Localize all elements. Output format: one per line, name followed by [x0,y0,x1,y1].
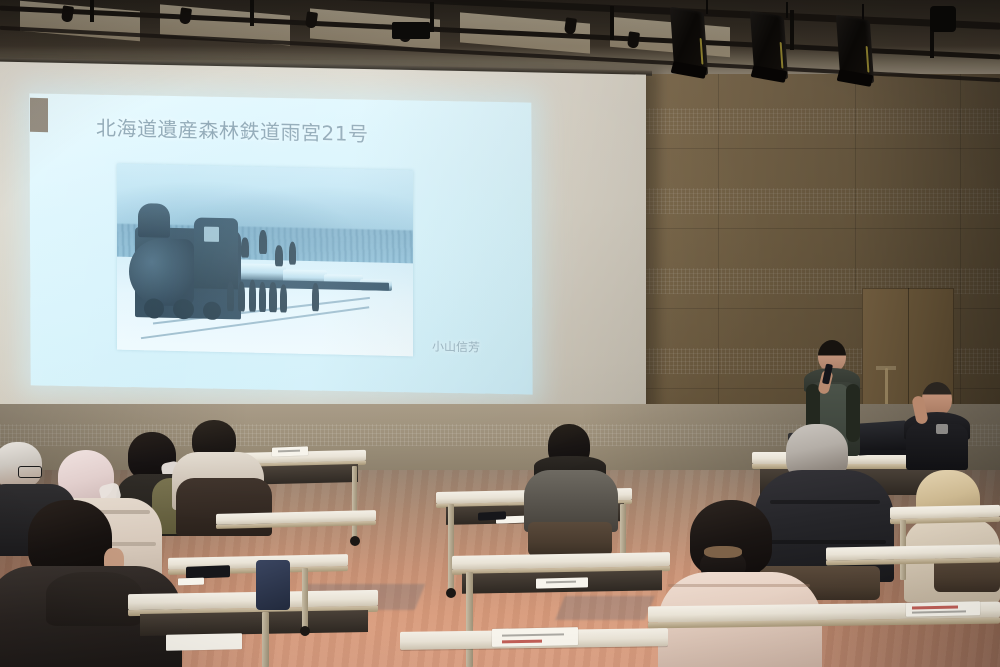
light-cable [786,2,788,18]
photo-worker [269,282,276,312]
table-leg [302,568,308,630]
truss-brace [430,2,434,32]
paper-on-desk[interactable] [536,577,588,588]
chair[interactable] [528,522,612,556]
paper-on-desk[interactable] [178,578,204,586]
photo-worker [289,242,297,264]
truss-brace [90,0,94,22]
paper-on-desk[interactable] [492,627,578,647]
light-cable [706,0,708,14]
hair-barrette-icon [704,546,742,558]
quilt-seam [668,584,810,587]
ceiling-equipment-box [392,22,430,39]
photo-locomotive-smokestack [138,203,171,237]
table-leg [448,504,454,590]
photo-locomotive-wheel [203,301,221,320]
photo-locomotive-wheel [173,299,194,320]
table-caster [350,536,360,546]
stage-spotlight-icon [670,6,708,75]
table-apron [140,610,368,636]
glasses-icon [18,466,42,478]
photo-worker [275,245,283,266]
truss-brace [610,6,614,40]
table-leg [466,572,473,667]
slide-credit: 小山信芳 [432,337,480,355]
slide-photo [117,164,413,357]
photo-cab-window [204,227,219,242]
puffer-seam [770,500,880,504]
truss-brace [790,10,794,50]
floor-mat [555,596,655,620]
audience-head [0,442,42,488]
presenter-right-arm [846,384,860,442]
table-caster [446,588,456,598]
photo-worker [280,285,287,313]
stage-spotlight-icon [750,10,788,79]
table-caster [300,626,310,636]
stage-spotlight-icon [930,6,956,32]
table-leg [262,612,269,667]
tablet-on-desk[interactable] [186,565,230,579]
photo-worker [241,237,249,258]
slide-notch [30,98,48,132]
stage-spotlight-icon [836,14,874,83]
photo-worker [249,280,256,312]
puffer-seam [764,540,886,544]
photo-worker [227,281,234,311]
truss-brace [250,0,254,26]
photo-worker [312,283,319,311]
photo-worker [238,282,245,312]
photo-worker [259,282,266,312]
photo-worker [259,230,267,254]
laptop-keyboard[interactable] [852,450,912,455]
door-handle-icon[interactable] [885,368,888,408]
table-leg [352,466,357,538]
paper-on-desk[interactable] [166,633,242,651]
panelist-collar [936,424,948,434]
lecture-hall-photo: 北海道遺産森林鉄道雨宮21号 小山信芳 [0,0,1000,667]
tablet-on-desk[interactable] [478,511,506,520]
bag-under-desk[interactable] [256,560,290,610]
